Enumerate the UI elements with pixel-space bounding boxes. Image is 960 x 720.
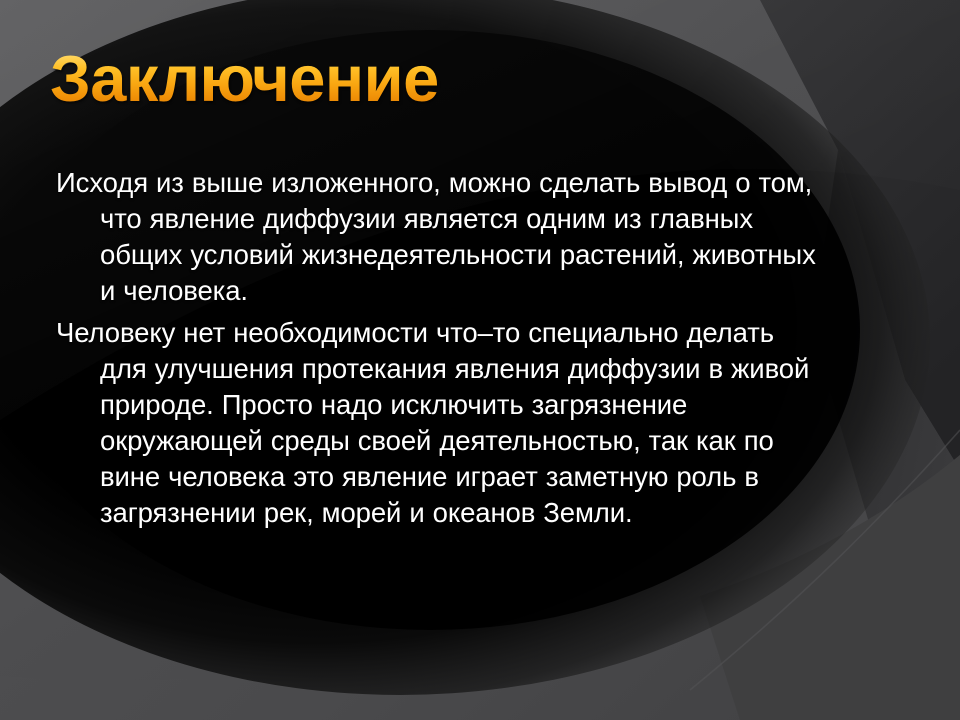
slide-content: Заключение Исходя из выше изложенного, м… (0, 0, 960, 720)
body-paragraph-2: Человеку нет необходимости что–то специа… (56, 315, 816, 531)
presentation-slide: Заключение Исходя из выше изложенного, м… (0, 0, 960, 720)
body-paragraph-1: Исходя из выше изложенного, можно сделат… (56, 165, 816, 309)
slide-body: Исходя из выше изложенного, можно сделат… (56, 165, 816, 537)
slide-title: Заключение (50, 46, 439, 111)
